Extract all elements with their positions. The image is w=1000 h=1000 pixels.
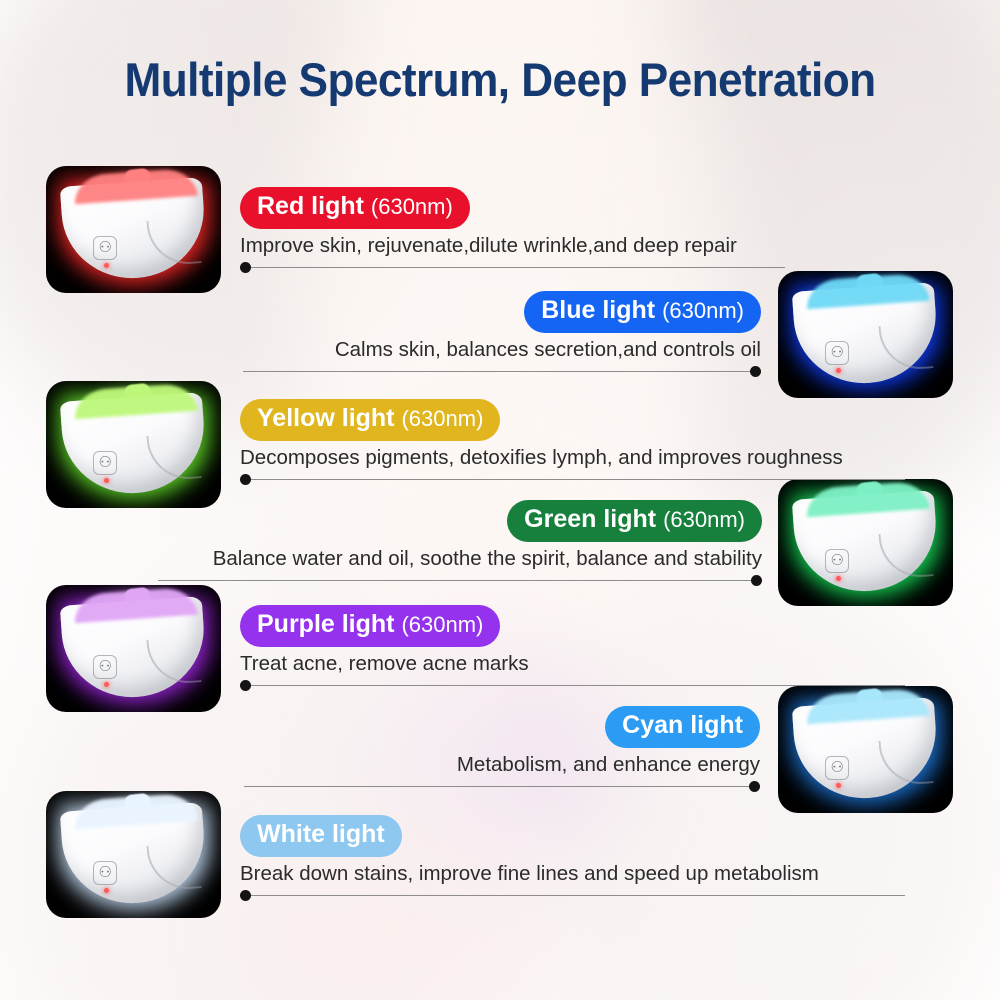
connector-rule-blue [243,364,761,378]
device-power-button-icon: ⚇ [825,341,849,365]
device-stage: ⚇ [46,791,221,918]
device-power-button-icon: ⚇ [93,236,117,260]
chip-name-blue: Blue light [541,296,655,324]
device-status-led [104,888,109,893]
device-power-button-icon: ⚇ [93,655,117,679]
connector-line-blue [243,371,761,372]
light-description-yellow: Decomposes pigments, detoxifies lymph, a… [240,446,905,470]
connector-rule-yellow [240,472,905,486]
connector-dot-green [751,575,762,586]
connector-line-green [158,580,762,581]
chip-wavelength-green: (630nm) [663,507,745,532]
device-status-led [836,368,841,373]
connector-rule-green [158,573,762,587]
connector-dot-blue [750,366,761,377]
device-status-led [836,576,841,581]
device-stage: ⚇ [46,166,221,293]
light-chip-green[interactable]: Green light (630nm) [507,500,762,542]
chip-name-yellow: Yellow light [257,404,395,432]
led-neck-device-green: ⚇ [778,479,953,606]
connector-line-red [240,267,785,268]
connector-dot-red [240,262,251,273]
page-title: Multiple Spectrum, Deep Penetration [30,52,970,107]
light-description-blue: Calms skin, balances secretion,and contr… [243,338,761,362]
device-power-button-icon: ⚇ [93,451,117,475]
device-status-led [836,783,841,788]
connector-rule-red [240,260,785,274]
led-neck-device-purple: ⚇ [46,585,221,712]
led-neck-device-red: ⚇ [46,166,221,293]
light-chip-red[interactable]: Red light (630nm) [240,187,470,229]
chip-wavelength-red: (630nm) [371,194,453,219]
connector-rule-purple [240,678,905,692]
connector-line-white [240,895,905,896]
device-power-button-icon: ⚇ [825,549,849,573]
led-neck-device-cyan: ⚇ [778,686,953,813]
spectrum-row-white: White lightBreak down stains, improve fi… [240,815,905,902]
chip-name-green: Green light [524,505,656,533]
device-stage: ⚇ [778,479,953,606]
connector-rule-cyan [244,779,760,793]
connector-dot-purple [240,680,251,691]
light-chip-white[interactable]: White light [240,815,402,857]
chip-wavelength-yellow: (630nm) [401,406,483,431]
chip-name-white: White light [257,820,385,848]
light-description-green: Balance water and oil, soothe the spirit… [158,547,762,571]
spectrum-row-cyan: Cyan lightMetabolism, and enhance energy [244,706,760,793]
light-description-cyan: Metabolism, and enhance energy [244,753,760,777]
spectrum-row-blue: Blue light (630nm)Calms skin, balances s… [243,291,761,378]
device-status-led [104,478,109,483]
spectrum-row-yellow: Yellow light (630nm)Decomposes pigments,… [240,399,905,486]
device-power-button-icon: ⚇ [93,861,117,885]
light-description-red: Improve skin, rejuvenate,dilute wrinkle,… [240,234,785,258]
led-neck-device-blue: ⚇ [778,271,953,398]
connector-dot-cyan [749,781,760,792]
device-status-led [104,263,109,268]
connector-line-purple [240,685,905,686]
light-description-white: Break down stains, improve fine lines an… [240,862,905,886]
light-chip-yellow[interactable]: Yellow light (630nm) [240,399,500,441]
led-neck-device-white: ⚇ [46,791,221,918]
chip-wavelength-blue: (630nm) [662,298,744,323]
connector-rule-white [240,888,905,902]
light-chip-purple[interactable]: Purple light (630nm) [240,605,500,647]
connector-line-cyan [244,786,760,787]
chip-wavelength-purple: (630nm) [401,612,483,637]
spectrum-row-green: Green light (630nm)Balance water and oil… [158,500,762,587]
chip-name-cyan: Cyan light [622,711,743,739]
device-status-led [104,682,109,687]
connector-dot-white [240,890,251,901]
light-description-purple: Treat acne, remove acne marks [240,652,905,676]
led-neck-device-yellow-green: ⚇ [46,381,221,508]
chip-name-purple: Purple light [257,610,395,638]
light-chip-cyan[interactable]: Cyan light [605,706,760,748]
spectrum-row-purple: Purple light (630nm)Treat acne, remove a… [240,605,905,692]
device-stage: ⚇ [46,585,221,712]
chip-name-red: Red light [257,192,364,220]
device-stage: ⚇ [778,686,953,813]
device-power-button-icon: ⚇ [825,756,849,780]
device-stage: ⚇ [46,381,221,508]
spectrum-row-red: Red light (630nm)Improve skin, rejuvenat… [240,187,785,274]
device-stage: ⚇ [778,271,953,398]
light-chip-blue[interactable]: Blue light (630nm) [524,291,761,333]
connector-dot-yellow [240,474,251,485]
connector-line-yellow [240,479,905,480]
